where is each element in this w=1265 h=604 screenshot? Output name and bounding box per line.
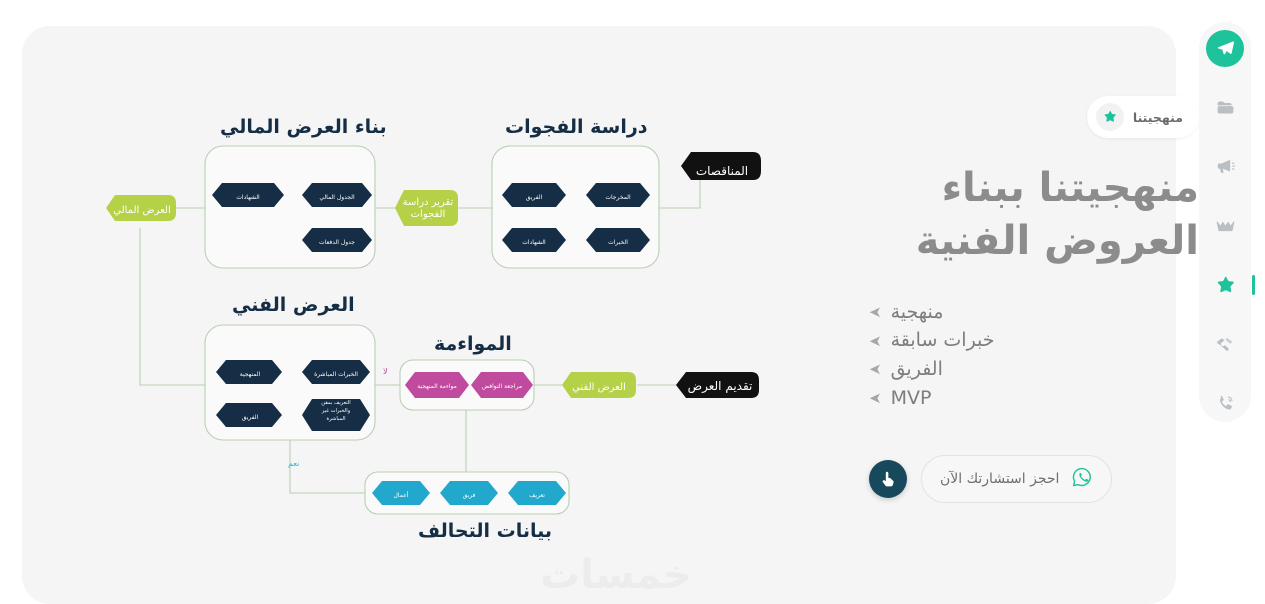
chevron-right-icon: ➤ [869,330,882,353]
svg-text:تقديم العرض: تقديم العرض [688,379,753,394]
page-title: منهجيتنا ببناء العروض الفنية [869,162,1199,268]
hero-section: منهجيتنا منهجيتنا ببناء العروض الفنية من… [869,96,1199,503]
watermark: خمسات [540,552,692,598]
svg-text:الخبرات: الخبرات [608,239,628,246]
node-gaps-4[interactable]: الخبرات [586,228,650,252]
list-item: MVP ➤ [869,384,1199,413]
group-title-alignment: المواءمة [434,333,512,355]
pointing-hand-cursor [869,460,907,498]
group-title-financial: بناء العرض المالي [220,116,387,138]
book-consultation-button[interactable]: احجز استشارتك الآن [921,455,1112,503]
pill-technical-offer[interactable]: العرض الفني [562,372,636,398]
pill-tenders[interactable]: المناقصات [681,152,761,180]
edge-label-no: لا [383,367,388,376]
node-alliance-2[interactable]: فريق [440,481,498,505]
svg-text:المباشرة: المباشرة [326,416,345,422]
active-indicator [1252,275,1256,295]
megaphone-icon [1215,156,1236,177]
screenshot-root: .grpbox { fill:#fafafa; stroke:#b9cfb4; … [0,0,1265,604]
svg-text:الجدول المالي: الجدول المالي [319,194,355,201]
svg-text:والخبرات غير: والخبرات غير [321,408,351,414]
list-item-label: منهجية [891,298,944,327]
cta-label: احجز استشارتك الآن [940,471,1059,487]
phone-icon [1215,393,1236,414]
svg-text:المنهجية: المنهجية [240,371,261,378]
sidebar-item-folder[interactable] [1206,89,1244,126]
svg-text:تعريف: تعريف [529,492,545,499]
node-alliance-1[interactable]: أعمال [372,481,430,505]
folder-icon [1215,97,1236,118]
svg-text:الفجوات: الفجوات [411,209,446,220]
svg-text:أعمال: أعمال [394,491,409,499]
node-financial-3[interactable]: جدول الدفعات [302,228,372,252]
cta-row: احجز استشارتك الآن [869,455,1199,503]
node-financial-1[interactable]: الشهادات [212,183,284,207]
svg-text:الشهادات: الشهادات [236,194,260,201]
crown-icon [1215,215,1236,236]
group-title-gaps: دراسة الفجوات [505,116,648,138]
sidebar-item-phone[interactable] [1206,385,1244,422]
sidebar-item-methodology[interactable] [1206,267,1244,304]
svg-text:العرض الفني: العرض الفني [572,382,626,393]
chevron-right-icon: ➤ [869,387,882,410]
node-technical-3[interactable]: الفريق [216,403,282,427]
svg-text:الفريق: الفريق [526,194,543,201]
node-gaps-2[interactable]: المخرجات [586,183,650,207]
svg-text:المخرجات: المخرجات [605,194,631,201]
edge-label-yes: نعم [288,459,299,468]
svg-text:الفريق: الفريق [242,414,259,421]
node-technical-2[interactable]: الخبرات المباشرة [302,360,370,384]
list-item-label: خبرات سابقة [891,326,995,355]
sidebar-item-megaphone[interactable] [1206,148,1244,185]
svg-text:فريق: فريق [463,492,476,499]
node-alliance-3[interactable]: تعريف [508,481,566,505]
chevron-right-icon: ➤ [869,301,882,324]
chevron-right-icon: ➤ [869,358,882,381]
svg-text:مواءمة المنهجية: مواءمة المنهجية [417,383,457,390]
node-gaps-3[interactable]: الشهادات [502,228,566,252]
sidebar-rail [1199,22,1251,422]
star-icon [1096,103,1124,131]
node-gaps-1[interactable]: الفريق [502,183,566,207]
svg-text:الخبرات المباشرة: الخبرات المباشرة [314,371,358,378]
sidebar-item-crown[interactable] [1206,207,1244,244]
pill-submit-offer[interactable]: تقديم العرض [676,372,759,398]
methodology-badge[interactable]: منهجيتنا [1087,96,1199,138]
svg-text:تقرير دراسة: تقرير دراسة [403,197,454,208]
list-item-label: الفريق [891,355,943,384]
methodology-diagram: .grpbox { fill:#fafafa; stroke:#b9cfb4; … [0,0,820,604]
svg-text:جدول الدفعات: جدول الدفعات [319,239,355,246]
star-icon [1214,274,1237,297]
sidebar-item-send[interactable] [1206,30,1244,67]
group-title-alliance: بيانات التحالف [418,520,552,542]
node-alignment-2[interactable]: مراجعة التوافض [471,372,533,398]
sidebar-item-handshake[interactable] [1206,326,1244,363]
pill-gap-report[interactable]: تقرير دراسة الفجوات [395,190,458,226]
node-alignment-1[interactable]: مواءمة المنهجية [405,372,469,398]
whatsapp-icon [1071,466,1093,492]
svg-text:العرض المالي: العرض المالي [113,205,170,216]
node-financial-2[interactable]: الجدول المالي [302,183,372,207]
feature-list: منهجية ➤ خبرات سابقة ➤ الفريق ➤ MVP ➤ [869,298,1199,414]
handshake-icon [1215,334,1236,355]
svg-text:مراجعة التوافض: مراجعة التوافض [482,383,522,390]
send-icon [1216,39,1235,58]
diagram-canvas: .grpbox { fill:#fafafa; stroke:#b9cfb4; … [0,0,820,604]
svg-text:المناقصات: المناقصات [696,164,748,178]
badge-label: منهجيتنا [1133,110,1183,125]
pill-financial-offer[interactable]: العرض المالي [106,195,176,221]
node-technical-1[interactable]: المنهجية [216,360,282,384]
svg-text:التعريف بمقن: التعريف بمقن [321,400,350,406]
list-item: الفريق ➤ [869,355,1199,384]
group-title-technical: العرض الفني [232,294,355,316]
list-item: منهجية ➤ [869,298,1199,327]
node-technical-4[interactable]: التعريف بمقن والخبرات غير المباشرة [302,399,370,431]
list-item: خبرات سابقة ➤ [869,326,1199,355]
list-item-label: MVP [891,384,932,413]
svg-text:الشهادات: الشهادات [522,239,546,246]
